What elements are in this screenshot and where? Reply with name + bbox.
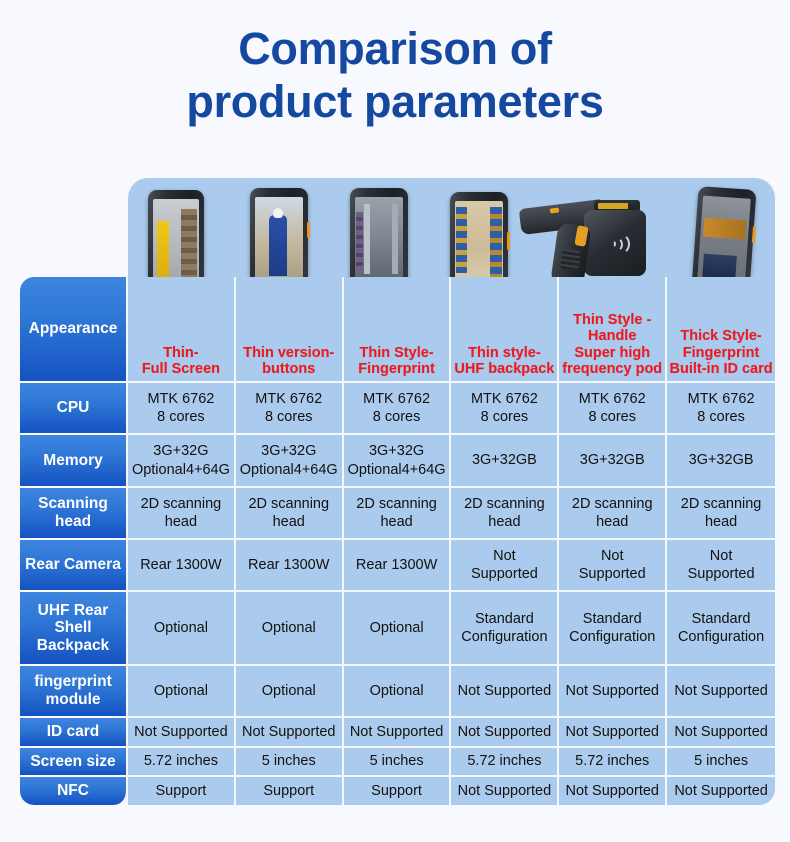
cell-id-card-6: Not Supported bbox=[667, 718, 775, 748]
cell-cpu-6: MTK 67628 cores bbox=[667, 383, 775, 435]
cell-uhf-backpack-4: StandardConfiguration bbox=[451, 592, 559, 666]
table-row-id-card: ID card Not Supported Not Supported Not … bbox=[20, 718, 775, 748]
product-label-1: Thin-Full Screen bbox=[128, 345, 234, 377]
cell-screen-size-1: 5.72 inches bbox=[128, 748, 236, 778]
appearance-cell-5: Thin Style - HandleSuper highfrequency p… bbox=[559, 277, 667, 383]
cell-fingerprint-module-6: Not Supported bbox=[667, 666, 775, 718]
cell-fingerprint-module-2: Optional bbox=[236, 666, 344, 718]
cell-uhf-backpack-3: Optional bbox=[344, 592, 452, 666]
product-label-4: Thin style-UHF backpack bbox=[451, 345, 557, 377]
cell-uhf-backpack-1: Optional bbox=[128, 592, 236, 666]
cell-memory-3: 3G+32GOptional4+64G bbox=[344, 435, 452, 487]
cell-scanning-head-2: 2D scanninghead bbox=[236, 488, 344, 540]
cell-memory-1: 3G+32GOptional4+64G bbox=[128, 435, 236, 487]
cell-uhf-backpack-2: Optional bbox=[236, 592, 344, 666]
row-header-uhf-backpack: UHF Rear ShellBackpack bbox=[20, 592, 128, 666]
row-header-rear-camera: Rear Camera bbox=[20, 540, 128, 592]
cell-fingerprint-module-4: Not Supported bbox=[451, 666, 559, 718]
table-row-nfc: NFC Support Support Support Not Supporte… bbox=[20, 777, 775, 805]
cell-scanning-head-1: 2D scanninghead bbox=[128, 488, 236, 540]
cell-scanning-head-3: 2D scanninghead bbox=[344, 488, 452, 540]
appearance-cell-4: Thin style-UHF backpack bbox=[451, 277, 559, 383]
cell-screen-size-3: 5 inches bbox=[344, 748, 452, 778]
cell-screen-size-5: 5.72 inches bbox=[559, 748, 667, 778]
cell-id-card-1: Not Supported bbox=[128, 718, 236, 748]
cell-fingerprint-module-5: Not Supported bbox=[559, 666, 667, 718]
cell-id-card-5: Not Supported bbox=[559, 718, 667, 748]
table-row-memory: Memory 3G+32GOptional4+64G 3G+32GOptiona… bbox=[20, 435, 775, 487]
cell-memory-6: 3G+32GB bbox=[667, 435, 775, 487]
cell-nfc-4: Not Supported bbox=[451, 777, 559, 805]
cell-id-card-3: Not Supported bbox=[344, 718, 452, 748]
cell-cpu-5: MTK 67628 cores bbox=[559, 383, 667, 435]
table-row-screen-size: Screen size 5.72 inches 5 inches 5 inche… bbox=[20, 748, 775, 778]
row-header-memory: Memory bbox=[20, 435, 128, 487]
cell-rear-camera-6: NotSupported bbox=[667, 540, 775, 592]
cell-id-card-2: Not Supported bbox=[236, 718, 344, 748]
cell-screen-size-6: 5 inches bbox=[667, 748, 775, 778]
cell-nfc-3: Support bbox=[344, 777, 452, 805]
cell-screen-size-4: 5.72 inches bbox=[451, 748, 559, 778]
cell-scanning-head-4: 2D scanninghead bbox=[451, 488, 559, 540]
product-label-5: Thin Style - HandleSuper highfrequency p… bbox=[559, 312, 665, 377]
cell-memory-5: 3G+32GB bbox=[559, 435, 667, 487]
row-header-screen-size: Screen size bbox=[20, 748, 128, 778]
cell-cpu-1: MTK 67628 cores bbox=[128, 383, 236, 435]
row-header-cpu: CPU bbox=[20, 383, 128, 435]
comparison-table-wrapper: Appearance Thin-Full Screen Thin version… bbox=[20, 277, 775, 805]
row-header-scanning-head: Scanninghead bbox=[20, 488, 128, 540]
appearance-cell-3: Thin Style-Fingerprint bbox=[344, 277, 452, 383]
row-header-appearance: Appearance bbox=[20, 277, 128, 383]
cell-rear-camera-3: Rear 1300W bbox=[344, 540, 452, 592]
cell-memory-4: 3G+32GB bbox=[451, 435, 559, 487]
cell-screen-size-2: 5 inches bbox=[236, 748, 344, 778]
comparison-table: Appearance Thin-Full Screen Thin version… bbox=[20, 277, 775, 805]
comparison-page: Comparison of product parameters bbox=[0, 0, 790, 842]
appearance-cell-1: Thin-Full Screen bbox=[128, 277, 236, 383]
page-title: Comparison of product parameters bbox=[0, 22, 790, 128]
page-title-line2: product parameters bbox=[0, 75, 790, 128]
page-title-line1: Comparison of bbox=[0, 22, 790, 75]
cell-fingerprint-module-1: Optional bbox=[128, 666, 236, 718]
product-label-6: Thick Style-FingerprintBuilt-in ID card bbox=[667, 328, 775, 377]
cell-nfc-1: Support bbox=[128, 777, 236, 805]
table-row-scanning-head: Scanninghead 2D scanninghead 2D scanning… bbox=[20, 488, 775, 540]
cell-cpu-3: MTK 67628 cores bbox=[344, 383, 452, 435]
cell-scanning-head-6: 2D scanninghead bbox=[667, 488, 775, 540]
cell-nfc-2: Support bbox=[236, 777, 344, 805]
cell-nfc-6: Not Supported bbox=[667, 777, 775, 805]
cell-cpu-4: MTK 67628 cores bbox=[451, 383, 559, 435]
cell-fingerprint-module-3: Optional bbox=[344, 666, 452, 718]
appearance-cell-2: Thin version-buttons bbox=[236, 277, 344, 383]
table-row-cpu: CPU MTK 67628 cores MTK 67628 cores MTK … bbox=[20, 383, 775, 435]
product-label-2: Thin version-buttons bbox=[236, 345, 342, 377]
appearance-cell-6: Thick Style-FingerprintBuilt-in ID card bbox=[667, 277, 775, 383]
table-row-appearance: Appearance Thin-Full Screen Thin version… bbox=[20, 277, 775, 383]
cell-rear-camera-5: NotSupported bbox=[559, 540, 667, 592]
cell-memory-2: 3G+32GOptional4+64G bbox=[236, 435, 344, 487]
table-row-uhf-backpack: UHF Rear ShellBackpack Optional Optional… bbox=[20, 592, 775, 666]
table-row-rear-camera: Rear Camera Rear 1300W Rear 1300W Rear 1… bbox=[20, 540, 775, 592]
table-row-fingerprint-module: fingerprintmodule Optional Optional Opti… bbox=[20, 666, 775, 718]
cell-rear-camera-4: NotSupported bbox=[451, 540, 559, 592]
product-label-3: Thin Style-Fingerprint bbox=[344, 345, 450, 377]
cell-rear-camera-2: Rear 1300W bbox=[236, 540, 344, 592]
row-header-fingerprint-module: fingerprintmodule bbox=[20, 666, 128, 718]
cell-scanning-head-5: 2D scanninghead bbox=[559, 488, 667, 540]
cell-rear-camera-1: Rear 1300W bbox=[128, 540, 236, 592]
cell-cpu-2: MTK 67628 cores bbox=[236, 383, 344, 435]
cell-id-card-4: Not Supported bbox=[451, 718, 559, 748]
rfid-wave-icon bbox=[606, 232, 630, 256]
cell-uhf-backpack-6: StandardConfiguration bbox=[667, 592, 775, 666]
row-header-id-card: ID card bbox=[20, 718, 128, 748]
cell-uhf-backpack-5: StandardConfiguration bbox=[559, 592, 667, 666]
cell-nfc-5: Not Supported bbox=[559, 777, 667, 805]
row-header-nfc: NFC bbox=[20, 777, 128, 805]
